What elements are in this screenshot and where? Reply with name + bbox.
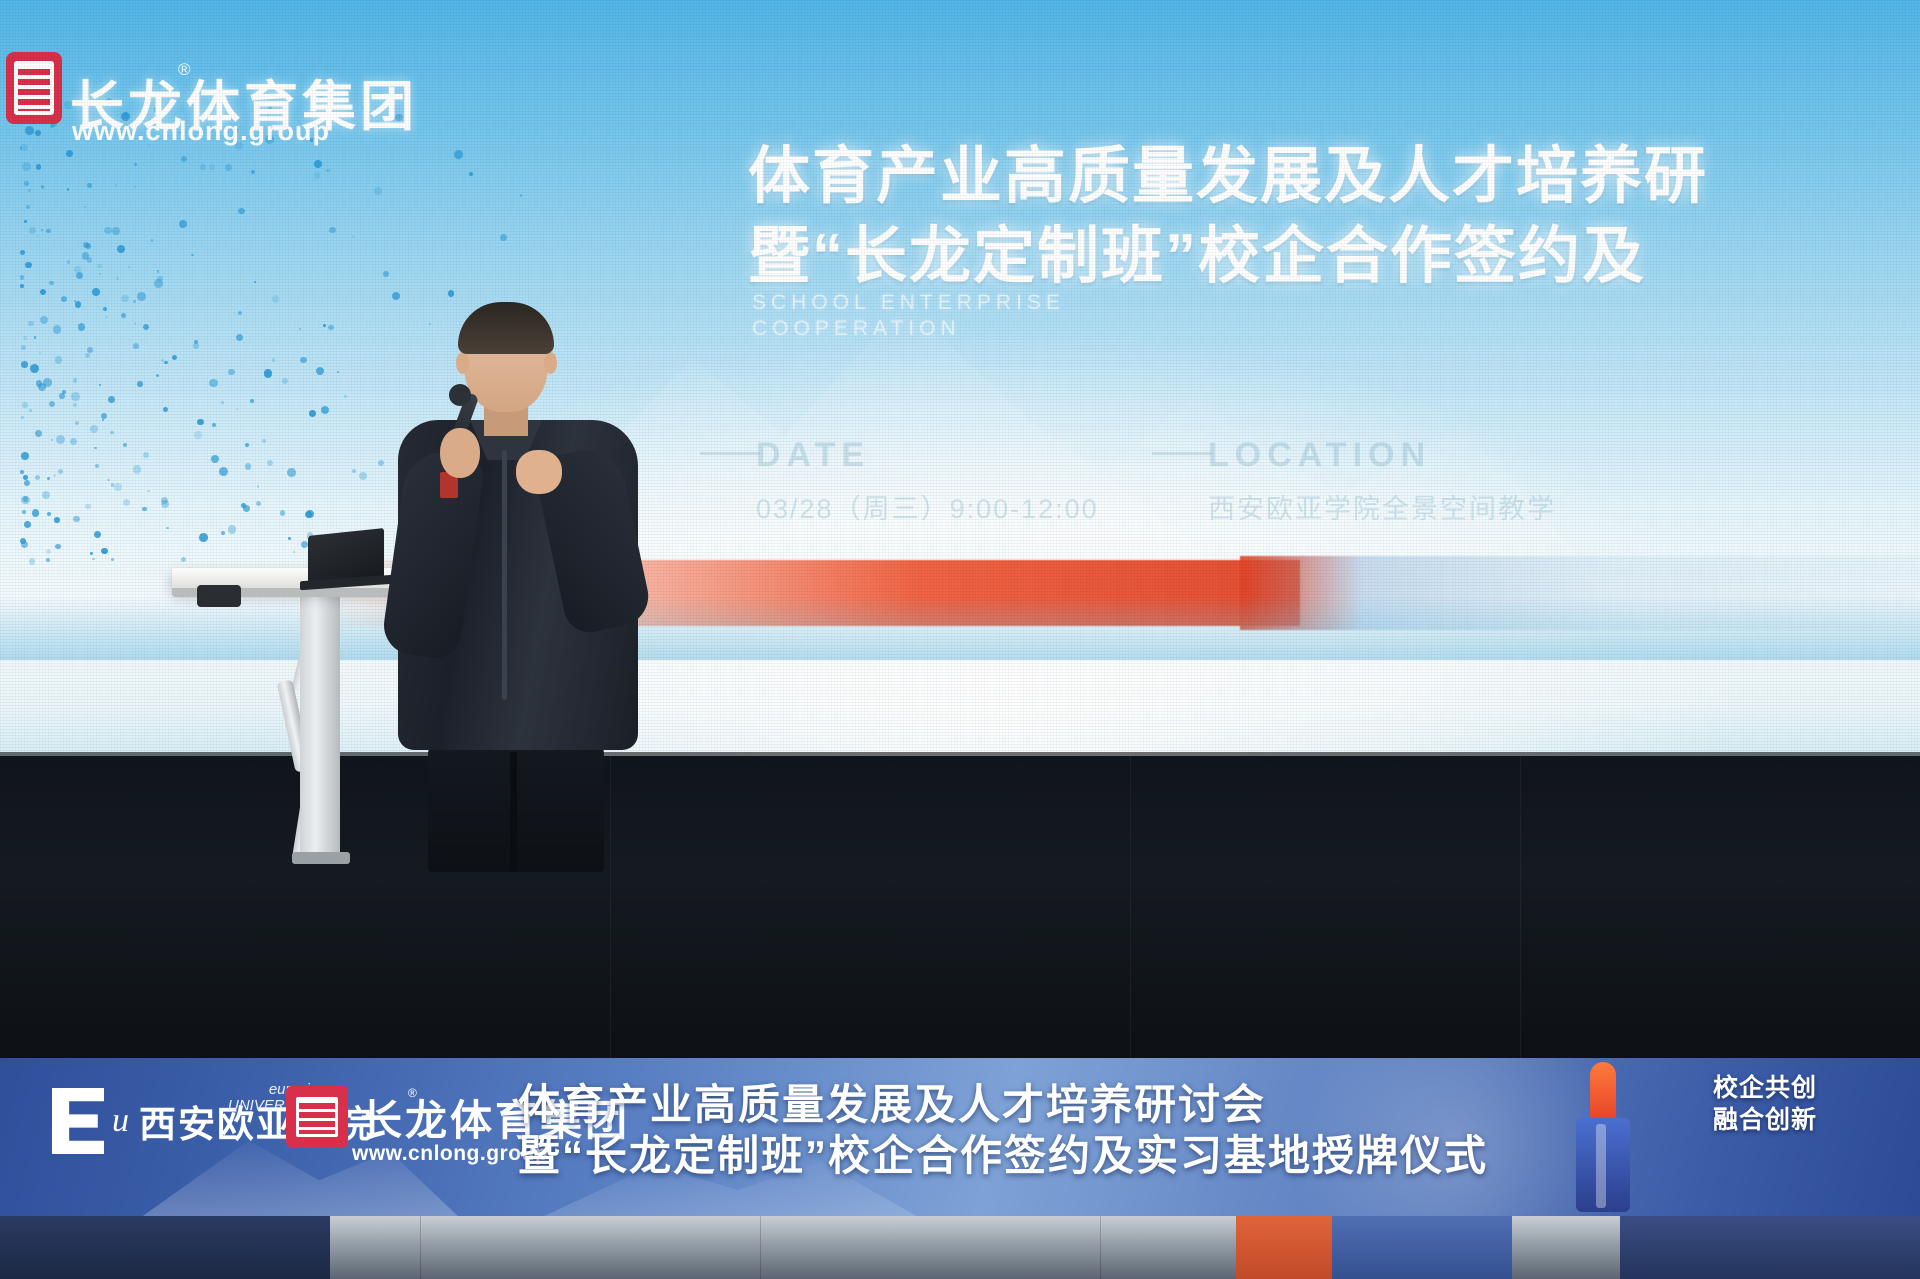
dust-particle <box>111 483 114 486</box>
date-block: DATE 03/28（周三）9:00-12:00 <box>756 436 1099 526</box>
dust-particle <box>42 491 50 499</box>
dust-particle <box>73 378 78 383</box>
dust-particle <box>163 407 168 412</box>
conference-stage-photo: 长龙体育集团 ® www.cnlong.group 体育产业高质量发展及人才培养… <box>0 0 1920 1279</box>
dust-particle <box>181 557 186 562</box>
cooperation-badge: 校企共创 融合创新 <box>1670 1072 1860 1190</box>
dust-particle <box>157 276 163 282</box>
headline-line-2: 暨“长龙定制班”校企合作签约及 <box>748 220 1920 294</box>
dust-particle <box>37 235 39 237</box>
microphone-head-icon <box>449 384 471 406</box>
eu-letter-u-icon: u <box>112 1102 129 1140</box>
location-label: LOCATION <box>1208 436 1556 475</box>
dust-particle <box>194 340 198 344</box>
dust-particle <box>200 164 206 170</box>
dust-particle <box>329 227 336 234</box>
dust-particle <box>323 324 326 327</box>
dust-particle <box>59 393 64 398</box>
subtitle-en-line-2: COOPERATION <box>752 316 1065 342</box>
dust-particle <box>61 296 67 302</box>
dust-particle <box>321 406 329 414</box>
dust-particle <box>43 378 52 387</box>
dust-particle <box>191 254 193 256</box>
dust-particle <box>54 517 59 522</box>
dust-particle <box>112 227 120 235</box>
dust-particle <box>71 392 80 401</box>
dust-particle <box>83 242 89 248</box>
dust-particle <box>121 313 127 319</box>
dust-particle <box>243 505 250 512</box>
dust-particle <box>22 510 26 514</box>
changlong-logo-mark <box>6 52 62 124</box>
dust-particle <box>62 390 66 394</box>
dust-particle <box>161 359 164 362</box>
dust-particle <box>94 531 101 538</box>
dust-particle <box>156 374 159 377</box>
location-value: 西安欧亚学院全景空间教学 <box>1208 487 1556 526</box>
banner-event-title: 体育产业高质量发展及人才培养研讨会 暨“长龙定制班”校企合作签约及实习基地授牌仪… <box>518 1080 1488 1182</box>
dust-particle <box>103 307 107 311</box>
badge-line-1: 校企共创 <box>1670 1072 1860 1104</box>
dust-particle <box>116 277 119 280</box>
speaker-figure <box>392 300 642 870</box>
location-rule <box>1152 452 1212 455</box>
dust-particle <box>288 537 291 540</box>
dust-particle <box>20 250 25 255</box>
dust-particle <box>105 316 107 318</box>
dust-particle <box>272 295 280 303</box>
dust-particle <box>133 300 136 303</box>
dust-particle <box>66 150 73 157</box>
dust-particle <box>108 396 115 403</box>
dust-particle <box>221 401 224 404</box>
dust-particle <box>299 328 302 331</box>
dust-particle <box>23 496 29 502</box>
dust-particle <box>280 510 285 515</box>
dust-particle <box>326 169 329 172</box>
dust-particle <box>92 288 100 296</box>
dust-particle <box>172 355 177 360</box>
dust-particle <box>267 460 273 466</box>
dust-particle <box>24 521 31 528</box>
dust-particle <box>209 379 217 387</box>
dust-particle <box>36 380 42 386</box>
dust-particle <box>250 399 254 403</box>
dust-particle <box>520 194 522 196</box>
screen-subtitle-en: SCHOOL ENTERPRISE COOPERATION <box>752 290 1065 342</box>
dust-particle <box>58 469 63 474</box>
speaker-ear-left <box>456 352 469 374</box>
dust-particle <box>76 272 83 279</box>
dust-particle <box>84 206 87 209</box>
dust-particle <box>78 323 85 330</box>
dust-particle <box>241 503 246 508</box>
banner-title-line-1: 体育产业高质量发展及人才培养研讨会 <box>518 1080 1488 1130</box>
dust-particle <box>228 369 234 375</box>
dust-particle <box>102 419 104 421</box>
podium-column <box>300 590 340 860</box>
dust-particle <box>282 378 289 385</box>
screen-headline: 体育产业高质量发展及人才培养研 暨“长龙定制班”校企合作签约及 <box>748 140 1920 294</box>
speaker-hair <box>458 302 554 354</box>
dust-particle <box>29 227 36 234</box>
dust-particle <box>500 234 507 241</box>
dust-particle <box>21 416 24 419</box>
dust-particle <box>29 558 35 564</box>
dust-particle <box>352 469 356 473</box>
dust-particle <box>25 126 34 135</box>
dust-particle <box>49 281 54 286</box>
dust-particle <box>53 325 62 334</box>
dust-particle <box>40 316 48 324</box>
dust-particle <box>22 402 27 407</box>
dust-particle <box>211 455 219 463</box>
dust-particle <box>193 343 199 349</box>
dust-particle <box>41 229 44 232</box>
dust-particle <box>21 361 27 367</box>
registered-mark-icon-banner: ® <box>408 1086 417 1100</box>
dust-particle <box>90 552 94 556</box>
dust-particle <box>22 162 31 171</box>
dust-particle <box>245 463 251 469</box>
dust-particle <box>256 501 261 506</box>
dust-particle <box>35 430 42 437</box>
dust-particle <box>212 423 216 427</box>
dust-particle <box>117 245 125 253</box>
speaker-zipper <box>502 450 507 700</box>
dust-particle <box>21 345 26 350</box>
dust-particle <box>300 357 306 363</box>
dust-particle <box>314 160 322 168</box>
dust-particle <box>40 289 46 295</box>
headline-line-1: 体育产业高质量发展及人才培养研 <box>748 140 1920 214</box>
dust-particle <box>20 538 26 544</box>
dust-particle <box>26 205 31 210</box>
dust-particle <box>309 410 316 417</box>
dust-particle <box>87 347 93 353</box>
changlong-logo-mark-banner <box>286 1086 348 1148</box>
dust-particle <box>228 525 236 533</box>
dust-particle <box>75 301 81 307</box>
subtitle-en-line-1: SCHOOL ENTERPRISE <box>752 290 1065 316</box>
dust-particle <box>23 336 27 340</box>
dust-particle <box>20 470 24 474</box>
dust-particle <box>123 499 130 506</box>
dust-particle <box>197 419 203 425</box>
floor-panel-blue <box>1332 1216 1512 1279</box>
dust-particle <box>24 220 27 223</box>
dust-particle <box>316 367 324 375</box>
dust-particle <box>157 270 160 273</box>
dust-particle <box>245 443 249 447</box>
dust-particle <box>128 266 131 269</box>
dust-particle <box>23 475 28 480</box>
dust-particle <box>272 358 275 361</box>
dust-particle <box>28 321 33 326</box>
dust-particle <box>25 262 32 269</box>
speaker-hand-holding-mic <box>440 428 480 478</box>
dust-particle <box>87 183 92 188</box>
dust-particle <box>46 558 50 562</box>
dust-particle <box>101 413 107 419</box>
dust-particle <box>32 509 40 517</box>
dust-particle <box>133 465 141 473</box>
dust-particle <box>166 527 168 529</box>
dust-particle <box>287 468 295 476</box>
desk-device <box>197 585 241 607</box>
badge-line-2: 融合创新 <box>1670 1104 1860 1136</box>
dust-particle <box>20 275 24 279</box>
dust-particle <box>56 435 65 444</box>
dust-particle <box>70 438 77 445</box>
dust-particle <box>30 364 39 373</box>
dust-particle <box>262 439 266 443</box>
floor-panel-right <box>1620 1216 1920 1279</box>
dust-particle <box>225 164 232 171</box>
registered-mark-icon: ® <box>178 60 191 80</box>
dust-particle <box>219 467 228 476</box>
dust-particle <box>179 220 187 228</box>
dust-particle <box>314 172 320 178</box>
dust-particle <box>110 431 113 434</box>
dust-particle <box>154 279 163 288</box>
dust-particle <box>46 229 50 233</box>
dust-particle <box>55 356 63 364</box>
dust-particle <box>469 172 474 177</box>
dust-particle <box>92 558 95 561</box>
dust-particle <box>82 252 90 260</box>
dust-particle <box>143 452 149 458</box>
dust-particle <box>209 164 215 170</box>
dust-particle <box>147 490 150 493</box>
dust-particle <box>328 325 333 330</box>
dust-particle <box>142 507 146 511</box>
dust-particle <box>257 485 260 488</box>
floor-panel-orange <box>1236 1216 1332 1279</box>
dust-particle <box>133 343 139 349</box>
dust-particle <box>99 273 101 275</box>
dust-particle <box>35 130 41 136</box>
dust-particle <box>46 549 51 554</box>
dust-particle <box>101 548 107 554</box>
speaker-gesturing-hand <box>516 450 562 494</box>
dust-particle <box>28 189 31 192</box>
date-rule <box>700 452 760 455</box>
dust-particle <box>35 475 40 480</box>
dust-particle <box>90 425 98 433</box>
dust-particle <box>121 295 128 302</box>
dust-particle <box>161 497 168 504</box>
dust-particle <box>74 266 81 273</box>
dust-particle <box>49 401 55 407</box>
dust-particle <box>20 284 24 288</box>
location-block: LOCATION 西安欧亚学院全景空间教学 <box>1208 436 1556 526</box>
dust-particle <box>97 264 102 269</box>
dust-particle <box>337 371 339 373</box>
dust-particle <box>123 443 127 447</box>
dust-particle <box>85 243 91 249</box>
dust-particle <box>137 292 146 301</box>
dust-particle <box>251 170 255 174</box>
dust-particle <box>293 551 295 553</box>
dust-particle <box>134 163 137 166</box>
dust-particle <box>161 500 169 508</box>
dust-particle <box>305 511 312 518</box>
dust-particle <box>107 479 110 482</box>
dust-particle <box>20 147 22 149</box>
dust-particle <box>21 541 28 548</box>
eu-letter-e-icon <box>52 1088 104 1154</box>
dust-particle <box>34 336 37 339</box>
dust-particle <box>359 472 367 480</box>
dust-particle <box>73 403 77 407</box>
dust-particle <box>181 156 188 163</box>
dust-particle <box>378 460 384 466</box>
dust-particle <box>306 510 314 518</box>
dust-particle <box>164 361 167 364</box>
dust-particle <box>448 290 454 296</box>
dust-particle <box>85 504 90 509</box>
dust-particle <box>236 334 243 341</box>
dust-particle <box>264 369 272 377</box>
dust-particle <box>95 464 99 468</box>
dust-particle <box>392 292 400 300</box>
dust-particle <box>104 227 112 235</box>
dust-particle <box>67 260 71 264</box>
dust-particle <box>137 381 142 386</box>
dust-particle <box>24 480 30 486</box>
dust-particle <box>21 496 30 505</box>
dust-particle <box>51 439 53 441</box>
dust-particle <box>47 477 50 480</box>
dust-particle <box>74 300 76 302</box>
dust-particle <box>115 184 118 187</box>
dust-particle <box>194 431 202 439</box>
dust-particle <box>254 281 256 283</box>
dust-particle <box>24 181 28 185</box>
dust-particle <box>111 558 114 561</box>
dust-particle <box>99 384 101 386</box>
dust-particle <box>47 512 51 516</box>
dust-particle <box>383 271 389 277</box>
dust-particle <box>94 447 96 449</box>
dust-particle <box>344 395 347 398</box>
floor-panel-left <box>0 1216 330 1279</box>
dust-particle <box>29 409 32 412</box>
dust-particle <box>143 324 149 330</box>
speaker-leg-split <box>510 752 517 872</box>
dust-particle <box>134 186 136 188</box>
dust-particle <box>39 352 41 354</box>
dust-particle <box>73 516 80 523</box>
dust-particle <box>199 533 208 542</box>
torch-emblem-icon <box>1556 1062 1652 1218</box>
dust-particle <box>134 322 136 324</box>
dust-particle <box>50 123 55 128</box>
dust-particle <box>67 188 69 190</box>
dust-particle <box>236 408 238 410</box>
dust-particle <box>36 164 42 170</box>
dust-particle <box>21 452 29 460</box>
dust-particle <box>55 544 60 549</box>
date-label: DATE <box>756 436 1099 475</box>
banner-title-line-2: 暨“长龙定制班”校企合作签约及实习基地授牌仪式 <box>518 1130 1488 1182</box>
date-value: 03/28（周三）9:00-12:00 <box>756 487 1099 526</box>
dust-particle <box>41 185 45 189</box>
dust-particle <box>85 353 90 358</box>
dust-particle <box>87 257 93 263</box>
dust-particle <box>151 239 154 242</box>
dust-particle <box>352 235 355 238</box>
dust-particle <box>454 150 463 159</box>
dust-particle <box>374 187 382 195</box>
dust-particle <box>238 208 244 214</box>
dust-particle <box>75 421 79 425</box>
dust-particle <box>221 531 225 535</box>
dust-particle <box>38 383 46 391</box>
dust-particle <box>114 483 122 491</box>
dust-particle <box>238 311 242 315</box>
speaker-ear-right <box>544 352 557 374</box>
dust-particle <box>53 474 56 477</box>
podium-foot <box>292 852 350 864</box>
dust-particle <box>20 144 27 151</box>
changlong-url: www.cnlong.group <box>72 116 330 147</box>
